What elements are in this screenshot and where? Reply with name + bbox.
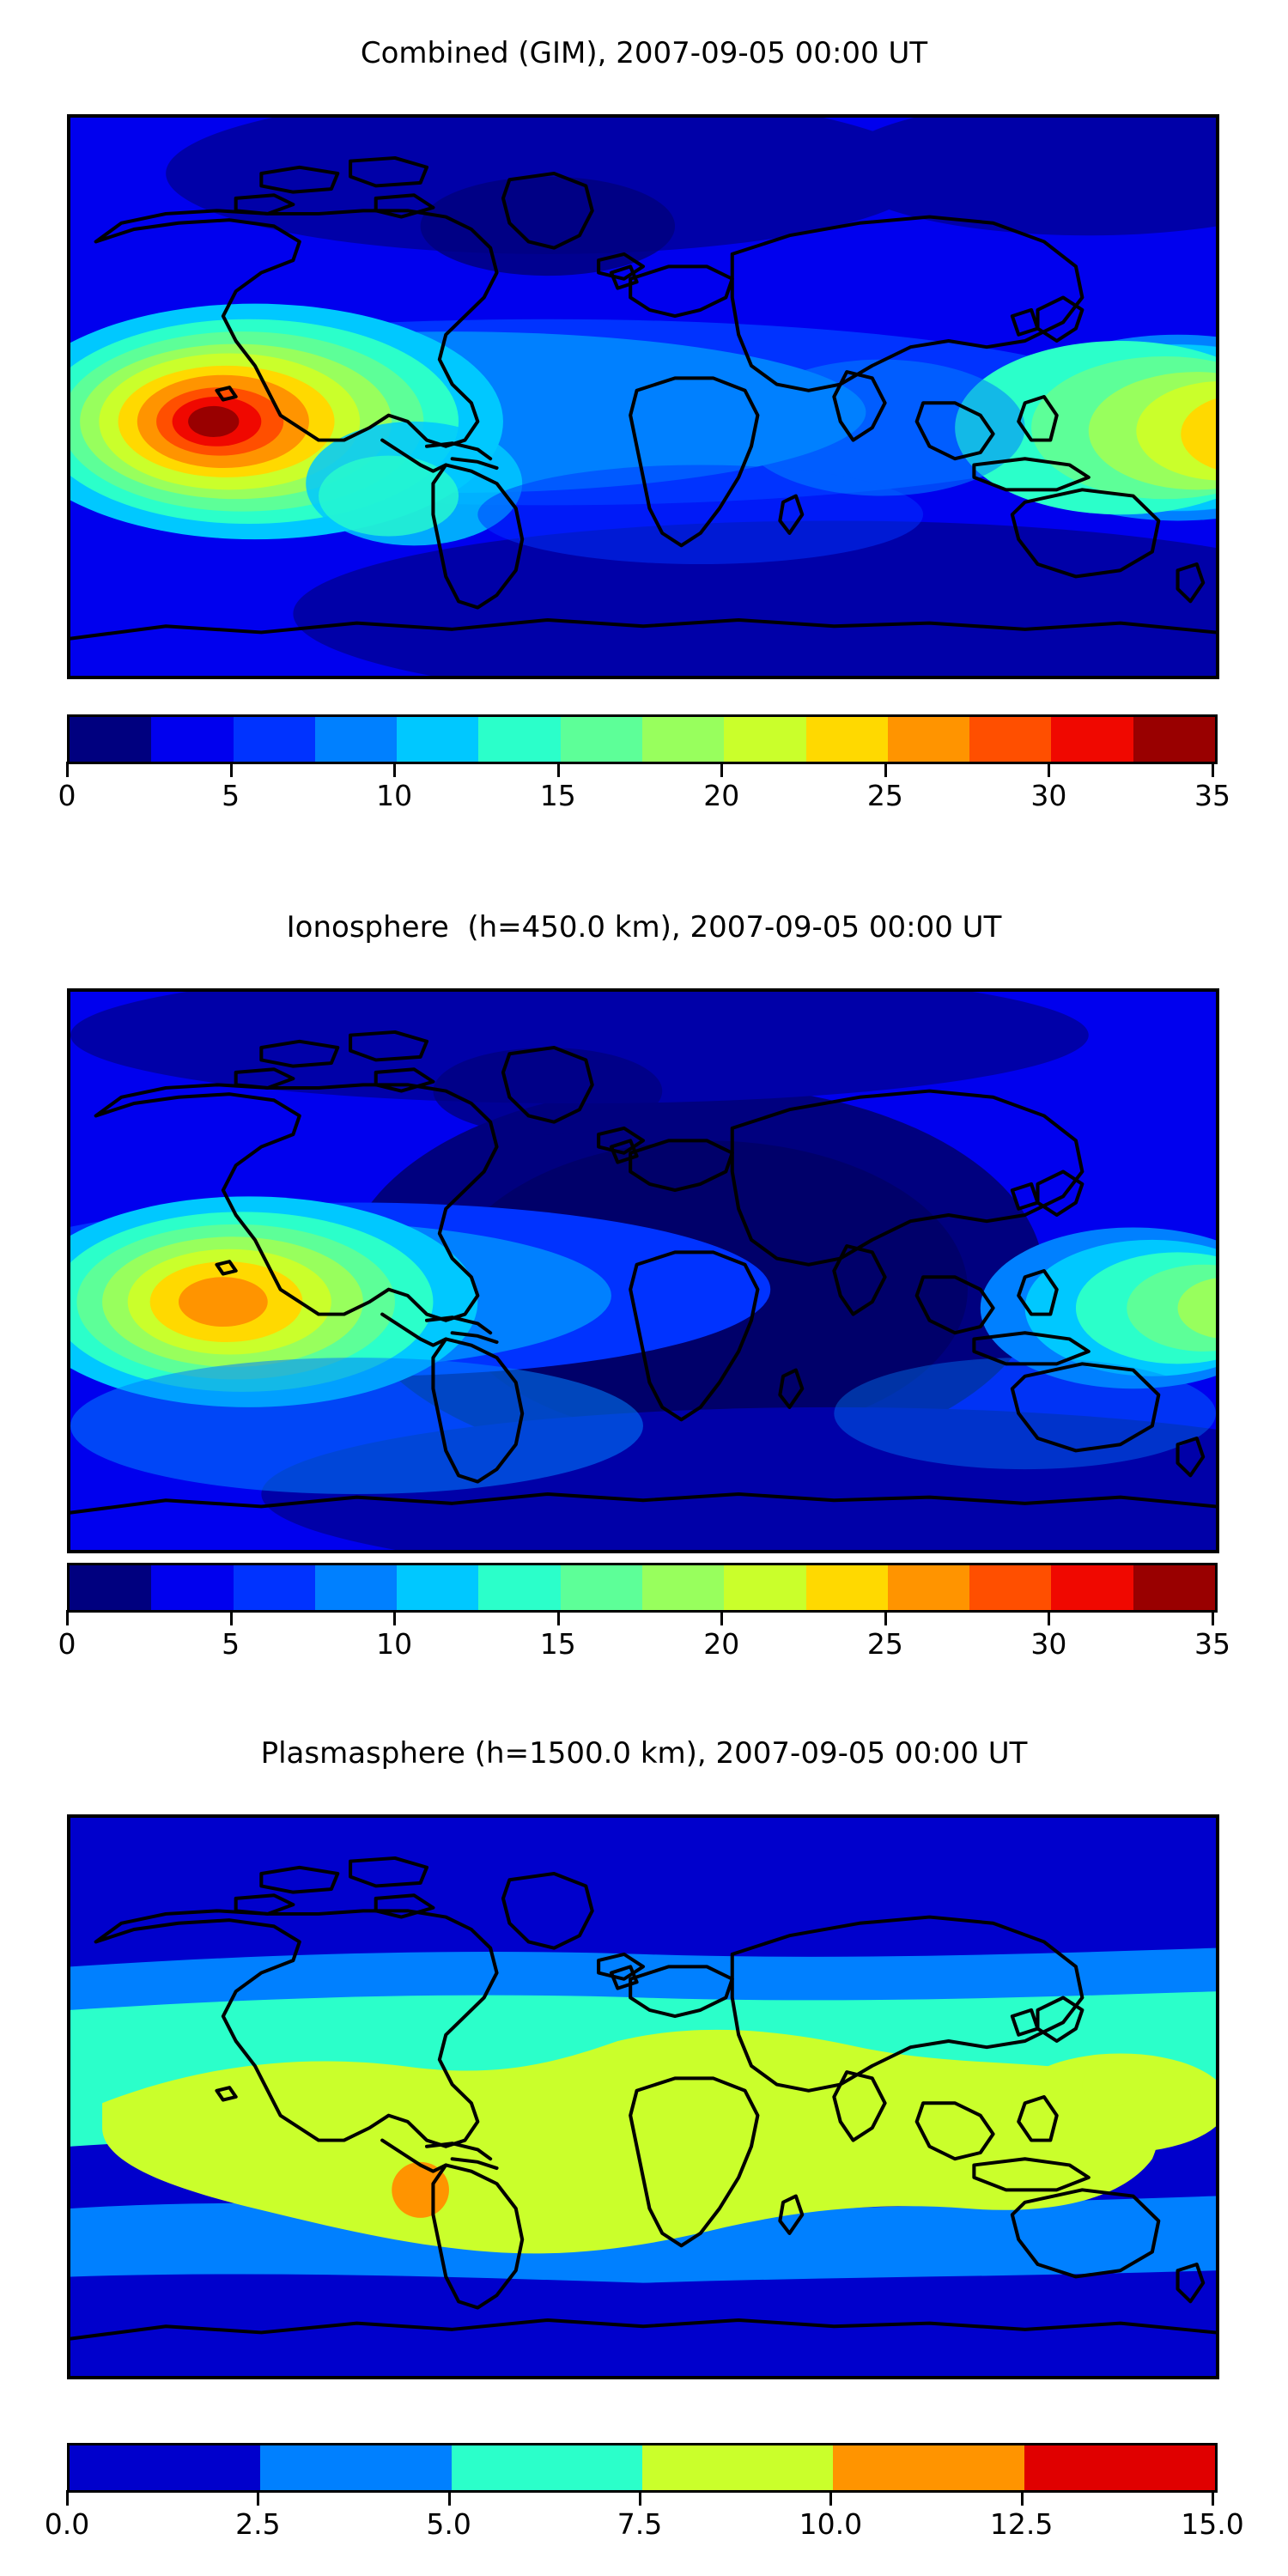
map-combined-gim	[67, 114, 1219, 679]
colorbar-tick-label: 15.0	[1181, 2507, 1243, 2542]
colorbar-tick	[720, 762, 723, 777]
colorbar-ionosphere	[67, 1563, 1218, 1613]
colorbar-tick-label: 35	[1194, 1627, 1230, 1662]
colorbar-band	[1051, 1565, 1133, 1610]
colorbar-tick-label: 5	[222, 1627, 240, 1662]
colorbar-tick	[230, 1610, 233, 1625]
colorbar-band	[478, 1565, 560, 1610]
colorbar-tick	[1048, 1610, 1050, 1625]
colorbar-band	[315, 1565, 397, 1610]
colorbar-tick	[257, 2490, 259, 2506]
colorbar-tick	[66, 2490, 69, 2506]
colorbar-tick	[448, 2490, 451, 2506]
colorbar-band	[260, 2445, 451, 2490]
colorbar-band	[234, 717, 315, 762]
colorbar-labels-ionosphere: 05101520253035	[67, 1627, 1212, 1665]
colorbar-tick-label: 7.5	[617, 2507, 662, 2542]
colorbar-band	[478, 717, 560, 762]
colorbar-band	[724, 1565, 805, 1610]
colorbar-band	[1051, 717, 1133, 762]
colorbar-band	[151, 1565, 233, 1610]
colorbar-band	[452, 2445, 642, 2490]
colorbar-labels-combined: 05101520253035	[67, 779, 1212, 817]
colorbar-tick-label: 12.5	[990, 2507, 1053, 2542]
colorbar-tick	[884, 1610, 887, 1625]
colorbar-tick-label: 30	[1030, 779, 1066, 813]
colorbar-tick-label: 0	[58, 779, 76, 813]
colorbar-band	[397, 1565, 478, 1610]
colorbar-tick-label: 10	[376, 779, 412, 813]
colorbar-tick-label: 10.0	[799, 2507, 862, 2542]
colorbar-band	[888, 1565, 969, 1610]
colorbar-tick-label: 35	[1194, 779, 1230, 813]
colorbar-band	[642, 717, 724, 762]
map-ionosphere	[67, 988, 1219, 1553]
colorbar-ticks-combined	[67, 762, 1212, 779]
colorbar-band	[806, 1565, 888, 1610]
colorbar-band	[1024, 2445, 1215, 2490]
colorbar-band	[969, 717, 1051, 762]
colorbar-tick	[1212, 762, 1214, 777]
colorbar-band	[888, 717, 969, 762]
colorbar-tick	[557, 1610, 560, 1625]
colorbar-tick	[720, 1610, 723, 1625]
colorbar-tick-label: 0.0	[45, 2507, 89, 2542]
colorbar-tick	[1048, 762, 1050, 777]
colorbar-bands-ionosphere	[70, 1565, 1215, 1610]
colorbar-ticks-ionosphere	[67, 1610, 1212, 1627]
colorbar-band	[561, 717, 642, 762]
colorbar-tick-label: 2.5	[235, 2507, 280, 2542]
colorbar-band	[642, 2445, 833, 2490]
colorbar-band	[1133, 717, 1215, 762]
colorbar-tick	[66, 1610, 69, 1625]
colorbar-band	[315, 717, 397, 762]
colorbar-band	[969, 1565, 1051, 1610]
panel-title-plasmasphere: Plasmasphere (h=1500.0 km), 2007-09-05 0…	[0, 1736, 1288, 1771]
colorbar-tick	[230, 762, 233, 777]
colorbar-tick	[1021, 2490, 1024, 2506]
colorbar-band	[70, 717, 151, 762]
colorbar-band	[70, 1565, 151, 1610]
colorbar-tick	[557, 762, 560, 777]
colorbar-tick-label: 25	[867, 779, 903, 813]
colorbar-tick	[884, 762, 887, 777]
colorbar-tick-label: 20	[703, 1627, 739, 1662]
colorbar-bands-combined	[70, 717, 1215, 762]
colorbar-combined-gim	[67, 714, 1218, 764]
colorbar-ticks-plasmasphere	[67, 2490, 1212, 2507]
colorbar-tick-label: 5	[222, 779, 240, 813]
map-plasmasphere	[67, 1814, 1219, 2379]
colorbar-band	[724, 717, 805, 762]
colorbar-tick	[1212, 2490, 1214, 2506]
colorbar-band	[561, 1565, 642, 1610]
colorbar-tick-label: 0	[58, 1627, 76, 1662]
figure-canvas: Combined (GIM), 2007-09-05 00:00 UT	[0, 0, 1288, 2576]
colorbar-band	[397, 717, 478, 762]
colorbar-labels-plasmasphere: 0.02.55.07.510.012.515.0	[67, 2507, 1212, 2545]
colorbar-band	[642, 1565, 724, 1610]
colorbar-tick	[639, 2490, 641, 2506]
colorbar-tick	[66, 762, 69, 777]
colorbar-tick-label: 10	[376, 1627, 412, 1662]
colorbar-band	[151, 717, 233, 762]
colorbar-band	[234, 1565, 315, 1610]
colorbar-band	[1133, 1565, 1215, 1610]
colorbar-tick-label: 30	[1030, 1627, 1066, 1662]
map-canvas-combined-gim	[70, 118, 1216, 676]
colorbar-band	[70, 2445, 260, 2490]
map-canvas-plasmasphere	[70, 1818, 1216, 2376]
colorbar-bands-plasmasphere	[70, 2445, 1215, 2490]
colorbar-tick	[829, 2490, 832, 2506]
colorbar-tick-label: 15	[540, 1627, 576, 1662]
colorbar-tick-label: 15	[540, 779, 576, 813]
colorbar-plasmasphere	[67, 2443, 1218, 2493]
colorbar-tick	[393, 1610, 396, 1625]
colorbar-tick	[1212, 1610, 1214, 1625]
panel-title-combined-gim: Combined (GIM), 2007-09-05 00:00 UT	[0, 36, 1288, 70]
colorbar-band	[806, 717, 888, 762]
colorbar-tick-label: 25	[867, 1627, 903, 1662]
colorbar-tick-label: 20	[703, 779, 739, 813]
panel-title-ionosphere: Ionosphere (h=450.0 km), 2007-09-05 00:0…	[0, 910, 1288, 945]
colorbar-tick-label: 5.0	[426, 2507, 471, 2542]
map-canvas-ionosphere	[70, 992, 1216, 1550]
colorbar-tick	[393, 762, 396, 777]
colorbar-band	[833, 2445, 1024, 2490]
